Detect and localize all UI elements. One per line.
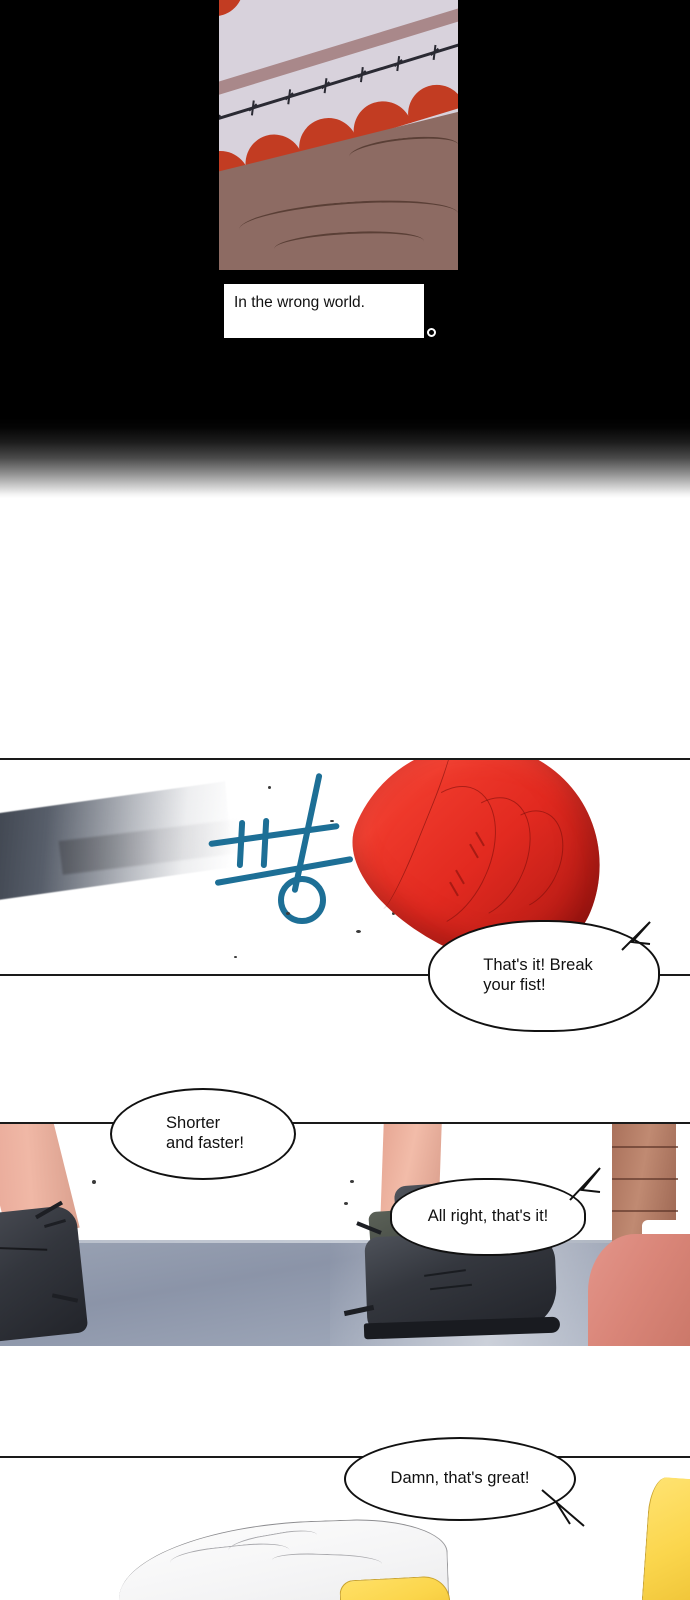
debris-speck (356, 930, 361, 933)
caption-box: In the wrong world. (224, 284, 424, 338)
yellow-fabric-right (642, 1476, 690, 1600)
sfx-impact-korean (200, 772, 350, 932)
panel-3-legs (0, 1122, 690, 1346)
bubble-break-fist-text: That's it! Break your fist! (469, 956, 619, 996)
bubble-damn-great-text: Damn, that's great! (381, 1469, 540, 1489)
floor-horizon-edge (0, 1240, 690, 1243)
bandage-wrap-line (612, 1210, 678, 1212)
bubble-all-right: All right, that's it! (390, 1178, 586, 1256)
bubble-break-fist-tail (620, 920, 658, 962)
mouth-artwork (219, 0, 458, 270)
debris-speck (234, 956, 237, 958)
bubble-damn-great-tail (540, 1484, 588, 1530)
panel-1-mouth: In the wrong world. (0, 0, 690, 422)
right-character-body (588, 1234, 690, 1346)
debris-speck (344, 1202, 348, 1205)
bandage-wrap-line (612, 1178, 678, 1180)
debris-speck (268, 786, 271, 789)
caption-text: In the wrong world. (234, 293, 365, 312)
bubble-shorter-text: Shorter and faster! (152, 1114, 254, 1154)
webtoon-page: In the wrong world. That's it! Brea (0, 0, 690, 1600)
bubble-all-right-tail (566, 1166, 608, 1206)
debris-speck (350, 1180, 354, 1183)
black-to-white-gradient (0, 418, 690, 498)
debris-speck (92, 1180, 96, 1184)
debris-speck (330, 820, 334, 822)
bandage-wrap-line (612, 1146, 678, 1148)
debris-speck (286, 912, 290, 915)
bubble-all-right-text: All right, that's it! (418, 1207, 559, 1227)
bubble-shorter: Shorter and faster! (110, 1088, 296, 1180)
caption-thought-dot (427, 328, 436, 337)
